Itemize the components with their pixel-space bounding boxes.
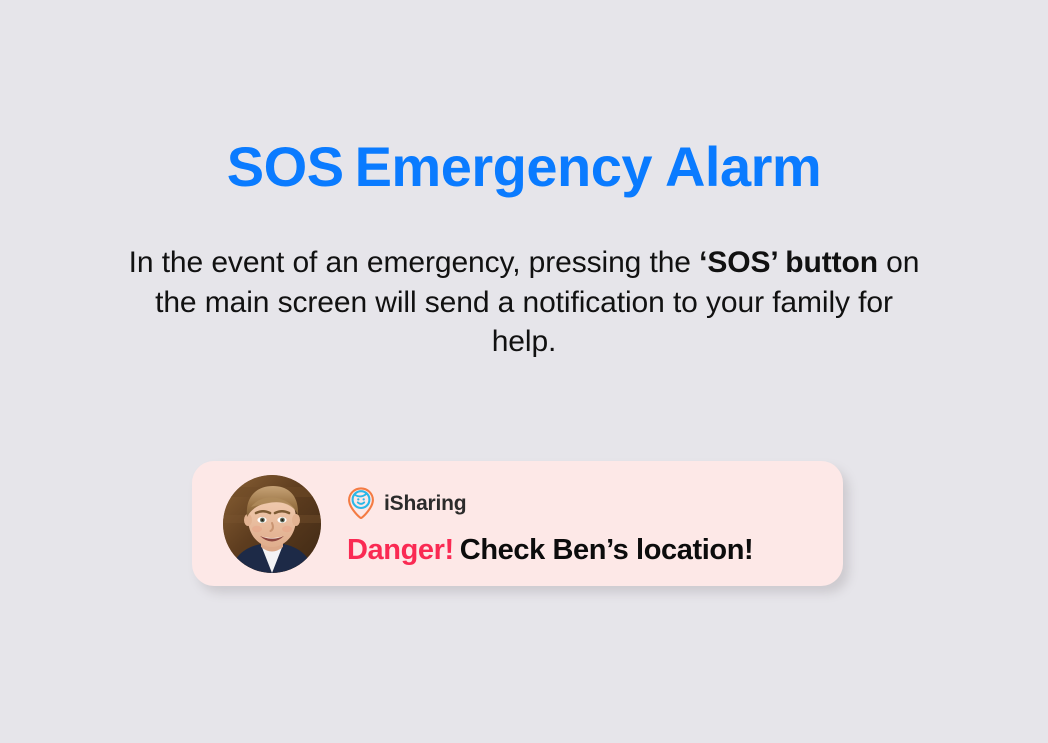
brand-name: iSharing: [384, 493, 466, 514]
description-bold-phrase: ‘SOS’ button: [699, 246, 878, 279]
danger-label: Danger!: [347, 534, 454, 566]
notification-message: Danger!Check Ben’s location!: [347, 536, 753, 565]
isharing-pin-face-logo: [347, 487, 375, 519]
description-paragraph: In the event of an emergency, pressing t…: [124, 243, 924, 362]
avatar: [223, 475, 321, 573]
notification-message-body: Check Ben’s location!: [460, 534, 753, 566]
page-title: SOSEmergency Alarm: [0, 134, 1048, 200]
page-title-rest: Emergency Alarm: [355, 135, 822, 198]
notification-content: iSharing Danger!Check Ben’s location!: [347, 475, 753, 573]
description-part-one: In the event of an emergency, pressing t…: [129, 246, 700, 279]
page-title-emphasis: SOS: [227, 135, 344, 198]
page-root: SOSEmergency Alarm In the event of an em…: [0, 0, 1048, 743]
brand-row: iSharing: [347, 486, 753, 520]
notification-card[interactable]: iSharing Danger!Check Ben’s location!: [192, 461, 843, 586]
